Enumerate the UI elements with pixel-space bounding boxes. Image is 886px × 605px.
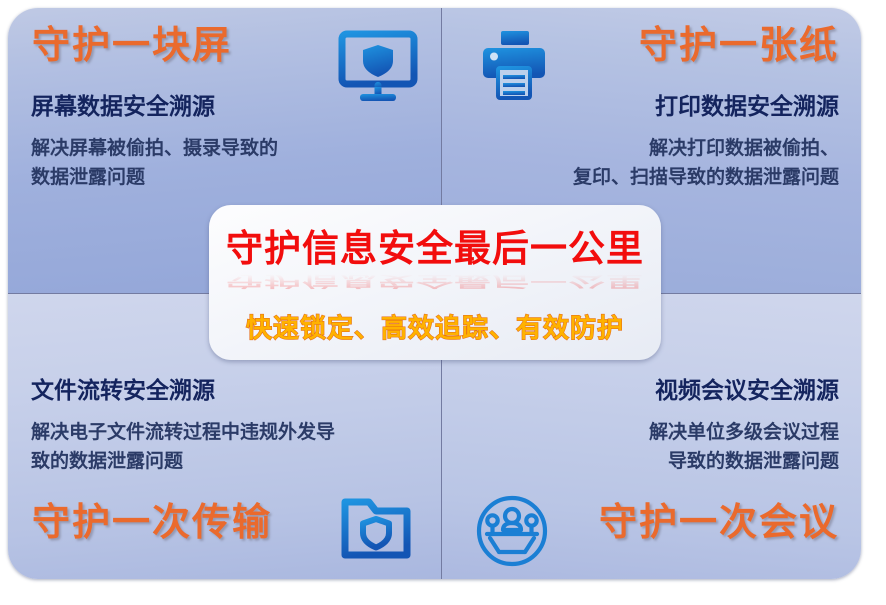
center-callout-subtitle: 快速锁定、高效追踪、有效防护 [246,316,624,342]
quadrant-transfer-headline: 文件流转安全溯源 [31,378,215,404]
quadrant-transfer-body-line-2: 致的数据泄露问题 [31,447,335,476]
quadrant-print-banner: 守护一张纸 [639,26,839,64]
quadrant-transfer-body-line-1: 解决电子文件流转过程中违规外发导 [31,418,335,447]
quadrant-transfer-body: 解决电子文件流转过程中违规外发导 致的数据泄露问题 [31,418,335,477]
quadrant-screen-body-line-1: 解决屏幕被偷拍、摄录导致的 [31,134,278,163]
printer-icon [477,30,551,104]
quadrant-meeting-headline: 视频会议安全溯源 [655,378,839,404]
quadrant-print-body-line-1: 解决打印数据被偷拍、 [573,134,839,163]
quadrant-screen-body-line-2: 数据泄露问题 [31,163,278,192]
center-callout-card: 守护信息安全最后一公里 守护信息安全最后一公里 快速锁定、高效追踪、有效防护 [209,205,661,360]
quadrant-screen-banner: 守护一块屏 [32,26,232,64]
quadrant-meeting-banner: 守护一次会议 [599,503,839,541]
quadrant-meeting-body: 解决单位多级会议过程 导致的数据泄露问题 [649,418,839,477]
folder-shield-icon [340,492,412,568]
quadrant-transfer-banner: 守护一次传输 [32,503,272,541]
monitor-shield-icon [338,30,418,106]
quadrant-screen-headline: 屏幕数据安全溯源 [31,94,215,120]
quadrant-meeting-body-line-1: 解决单位多级会议过程 [649,418,839,447]
center-callout-title-reflection: 守护信息安全最后一公里 [226,273,644,289]
quadrant-meeting-body-line-2: 导致的数据泄露问题 [649,447,839,476]
quadrant-print-body-line-2: 复印、扫描导致的数据泄露问题 [573,163,839,192]
center-callout-title: 守护信息安全最后一公里 [226,230,644,267]
meeting-people-icon [474,494,550,572]
quadrant-screen-body: 解决屏幕被偷拍、摄录导致的 数据泄露问题 [31,134,278,193]
quadrant-print-body: 解决打印数据被偷拍、 复印、扫描导致的数据泄露问题 [573,134,839,193]
quadrant-print-headline: 打印数据安全溯源 [655,94,839,120]
